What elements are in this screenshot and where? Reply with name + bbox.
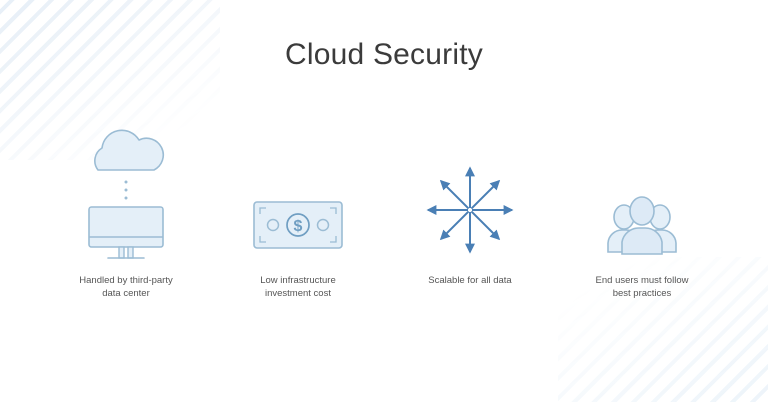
feature-item-scalable: Scalable for all data <box>384 120 556 287</box>
radiating-arrows-icon <box>420 160 520 260</box>
icon-container <box>592 120 692 260</box>
icon-container <box>76 120 176 260</box>
svg-text:$: $ <box>294 218 303 235</box>
slide-canvas: Cloud Security <box>0 0 768 402</box>
page-title: Cloud Security <box>0 38 768 72</box>
icon-container <box>420 120 520 260</box>
users-group-icon <box>592 190 692 260</box>
feature-item-low-cost: $ Low infrastructure investment cost <box>212 120 384 300</box>
feature-item-end-users: End users must follow best practices <box>556 120 728 300</box>
cloud-monitor-icon <box>76 125 176 260</box>
banknote-dollar-icon: $ <box>248 190 348 260</box>
icon-container: $ <box>248 120 348 260</box>
feature-caption: Handled by third-party data center <box>79 274 172 300</box>
feature-caption: Low infrastructure investment cost <box>260 274 336 300</box>
feature-caption: Scalable for all data <box>428 274 511 287</box>
feature-item-cloud-data-center: Handled by third-party data center <box>40 120 212 300</box>
feature-caption: End users must follow best practices <box>596 274 689 300</box>
feature-list: Handled by third-party data center $ <box>40 120 728 300</box>
